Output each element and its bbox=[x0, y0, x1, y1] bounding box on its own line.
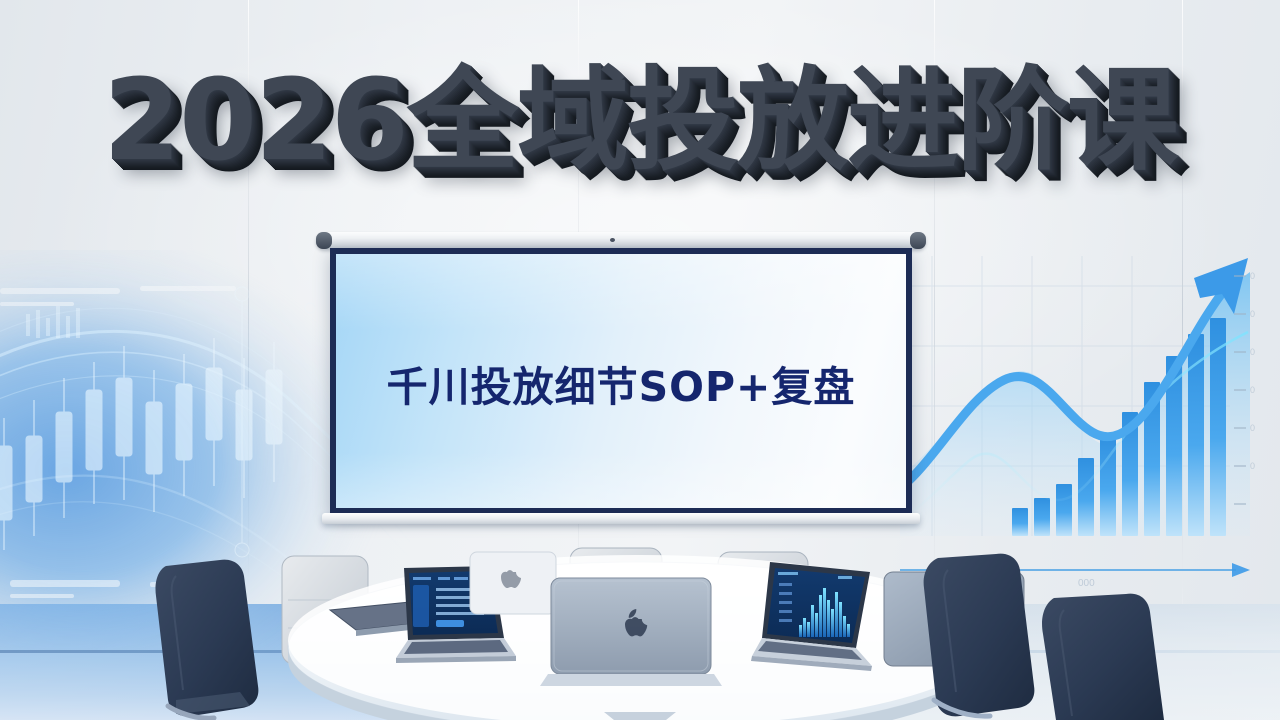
laptop-back-apple bbox=[470, 552, 556, 614]
laptop-right-open bbox=[751, 562, 872, 671]
laptop-center-apple bbox=[540, 578, 722, 686]
chair-right bbox=[924, 554, 1035, 717]
page-title: 2026全域投放进阶课 bbox=[0, 62, 1280, 181]
poster-canvas: 00 00 00 1(0000 千川投放细节SOP+复盘 bbox=[0, 0, 1280, 720]
table-pedestal bbox=[604, 712, 676, 720]
chair-left bbox=[160, 580, 264, 716]
chair-far-right bbox=[1042, 594, 1164, 720]
screen-headline: 千川投放细节SOP+复盘 bbox=[387, 353, 856, 413]
